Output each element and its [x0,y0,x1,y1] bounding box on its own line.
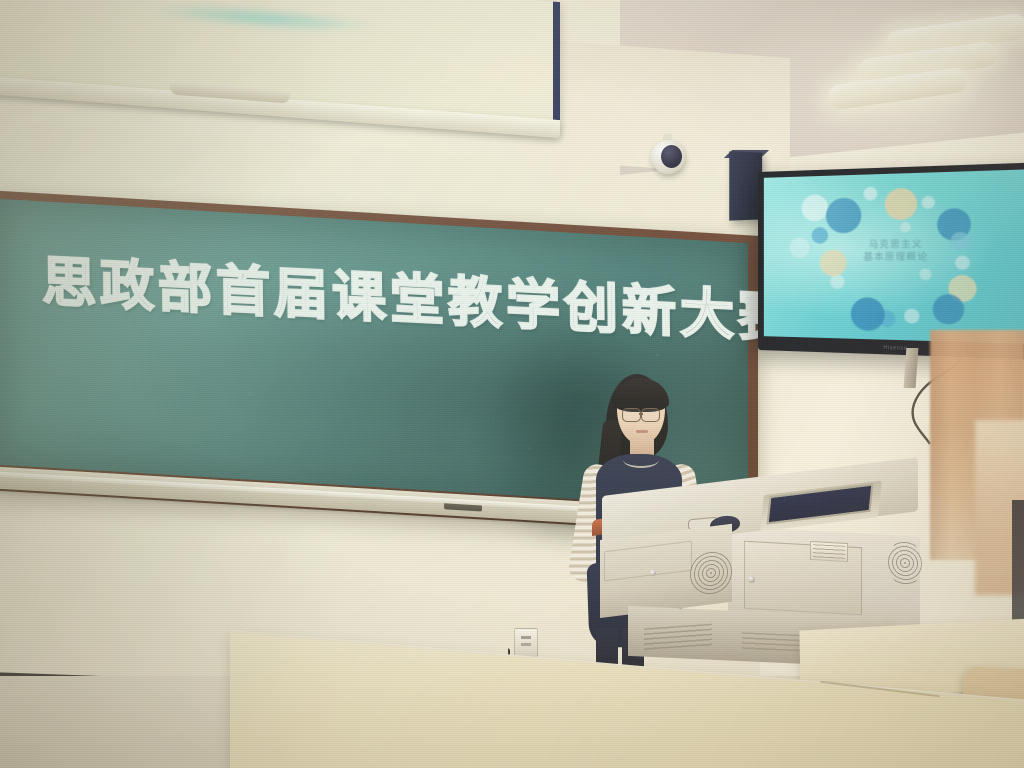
slide-bubble-15 [812,227,828,244]
speaker-grille-icon [888,539,922,587]
projection-screen-glow [147,0,377,38]
slide-bubble-12 [851,297,885,331]
classroom-photo: ASP 思政部首届课堂教学创新大赛 马克思主义 基本原理概论 Hisen [0,0,1024,768]
slide-bubble-18 [919,268,931,280]
slide-line-2: 基本原理概论 [863,250,928,263]
slide-bubble-2 [863,187,877,201]
slide-bubble-9 [933,294,964,325]
label-text-lines [813,544,845,559]
slide-bubble-4 [922,196,935,209]
slide-bubble-17 [900,222,911,233]
slide-bubble-7 [955,256,970,270]
necklace [623,452,659,468]
glasses-bridge [639,413,643,415]
outlet-slot [521,636,531,639]
slide-text: 马克思主义 基本原理概论 [863,237,928,263]
slide-bubble-3 [885,188,918,220]
lectern-label [810,541,848,562]
glasses-icon [641,408,660,422]
chalkboard-heading: 思政部首届课堂教学创新大赛 [42,237,733,350]
slide-bubble-1 [826,198,861,234]
slide-bubble-10 [904,309,919,324]
slide-bubble-14 [820,250,847,277]
slide-bubble-6 [951,232,970,250]
glasses-icon [622,408,641,422]
lock-icon[interactable] [650,570,656,576]
slide-bubble-13 [830,274,844,289]
television-screen: 马克思主义 基本原理概论 [764,169,1024,344]
outlet-slot [521,643,531,646]
slide-bubble-graphics [764,169,1024,178]
mouth [636,430,648,433]
camera-lens-icon [661,145,682,168]
slide-bubble-0 [802,194,828,221]
lock-icon[interactable] [748,576,755,583]
slide-line-1: 马克思主义 [863,237,928,250]
slide-bubble-16 [790,238,810,258]
